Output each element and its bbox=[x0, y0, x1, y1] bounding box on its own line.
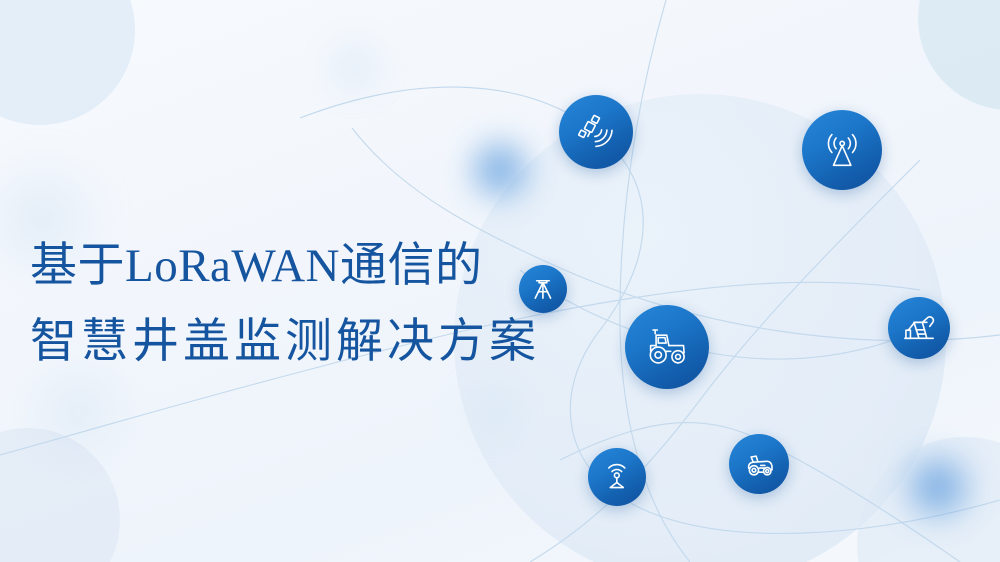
icon-node-tower[interactable] bbox=[802, 110, 882, 190]
soft-circle-top-left bbox=[0, 0, 135, 125]
icon-node-satellite[interactable] bbox=[559, 95, 633, 169]
soft-circle-bottom-left bbox=[0, 428, 120, 562]
page-title: 基于LoRaWAN通信的 智慧井盖监测解决方案 bbox=[30, 228, 590, 380]
wireless-sensor-icon bbox=[600, 460, 634, 494]
satellite-dish-icon bbox=[575, 111, 618, 154]
icon-node-harvester[interactable] bbox=[729, 434, 789, 494]
harvester-robot-icon bbox=[742, 447, 777, 482]
icon-node-tractor[interactable] bbox=[625, 305, 709, 389]
tractor-icon bbox=[643, 323, 692, 372]
slide-canvas: 基于LoRaWAN通信的 智慧井盖监测解决方案 bbox=[0, 0, 1000, 562]
title-line-1: 基于LoRaWAN通信的 bbox=[30, 228, 590, 304]
icon-node-pumpjack[interactable] bbox=[888, 297, 950, 359]
soft-circle-top-right bbox=[918, 0, 1000, 110]
title-line-2: 智慧井盖监测解决方案 bbox=[30, 304, 590, 380]
icon-node-sensor[interactable] bbox=[588, 448, 646, 506]
oil-pumpjack-icon bbox=[901, 310, 937, 346]
radio-tower-icon bbox=[819, 127, 865, 173]
